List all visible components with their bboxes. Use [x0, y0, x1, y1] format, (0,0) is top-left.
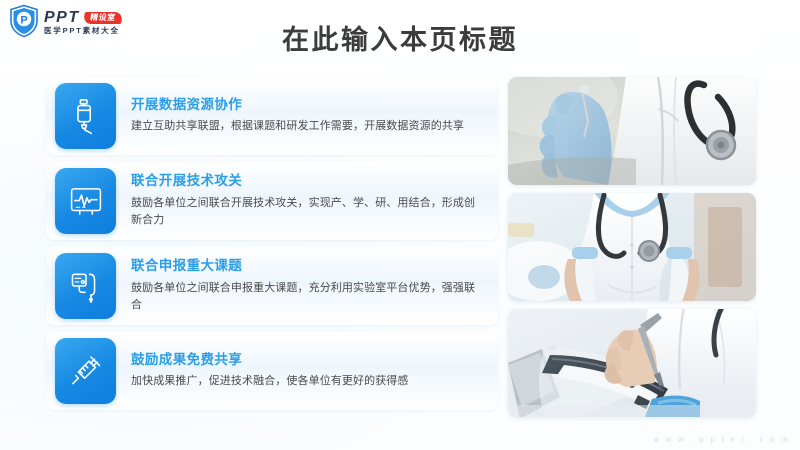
page-title: 在此输入本页标题 [0, 18, 800, 57]
feature-card-desc: 鼓励各单位之间联合开展技术攻关，实现产、学、研、用结合，形成创新合力 [131, 195, 482, 229]
photo-nurse-stethoscope [508, 193, 756, 301]
feature-card-text: 开展数据资源协作 建立互助共享联盟，根据课题和研发工作需要，开展数据资源的共享 [116, 88, 498, 144]
feature-card-title: 鼓励成果免费共享 [131, 352, 482, 368]
site-watermark: w w w . p p t e r . c o m [653, 435, 790, 444]
feature-card[interactable]: 鼓励成果免费共享 加快成果推广，促进技术融合，使各单位有更好的获得感 [46, 332, 498, 410]
feature-card-desc: 鼓励各单位之间联合申报重大课题，充分利用实验室平台优势，强强联合 [131, 280, 482, 314]
photo-column [508, 77, 756, 417]
feature-card-title: 开展数据资源协作 [131, 97, 482, 113]
feature-card-title: 联合开展技术攻关 [131, 173, 482, 189]
feature-card[interactable]: 联合开展技术攻关 鼓励各单位之间联合开展技术攻关，实现产、学、研、用结合，形成创… [46, 162, 498, 240]
infusion-pump-icon [55, 253, 116, 319]
photo-gloved-hands-vial [508, 77, 756, 185]
feature-card-title: 联合申报重大课题 [131, 258, 482, 274]
feature-card-desc: 加快成果推广，促进技术融合，使各单位有更好的获得感 [131, 373, 482, 390]
syringe-icon [55, 338, 116, 404]
feature-card-list: 开展数据资源协作 建立互助共享联盟，根据课题和研发工作需要，开展数据资源的共享 … [46, 77, 498, 410]
feature-card[interactable]: 联合申报重大课题 鼓励各单位之间联合申报重大课题，充分利用实验室平台优势，强强联… [46, 247, 498, 325]
feature-card-text: 鼓励成果免费共享 加快成果推广，促进技术融合，使各单位有更好的获得感 [116, 343, 498, 399]
ecg-monitor-icon [55, 168, 116, 234]
feature-card[interactable]: 开展数据资源协作 建立互助共享联盟，根据课题和研发工作需要，开展数据资源的共享 [46, 77, 498, 155]
slide-canvas: P PPT 精设室 医学PPT素材大全 在此输入本页标题 [0, 0, 800, 450]
feature-card-text: 联合开展技术攻关 鼓励各单位之间联合开展技术攻关，实现产、学、研、用结合，形成创… [116, 164, 498, 237]
photo-doctor-writing-clipboard [508, 309, 756, 417]
feature-card-text: 联合申报重大课题 鼓励各单位之间联合申报重大课题，充分利用实验室平台优势，强强联… [116, 249, 498, 322]
iv-drip-icon [55, 83, 116, 149]
feature-card-desc: 建立互助共享联盟，根据课题和研发工作需要，开展数据资源的共享 [131, 118, 482, 135]
